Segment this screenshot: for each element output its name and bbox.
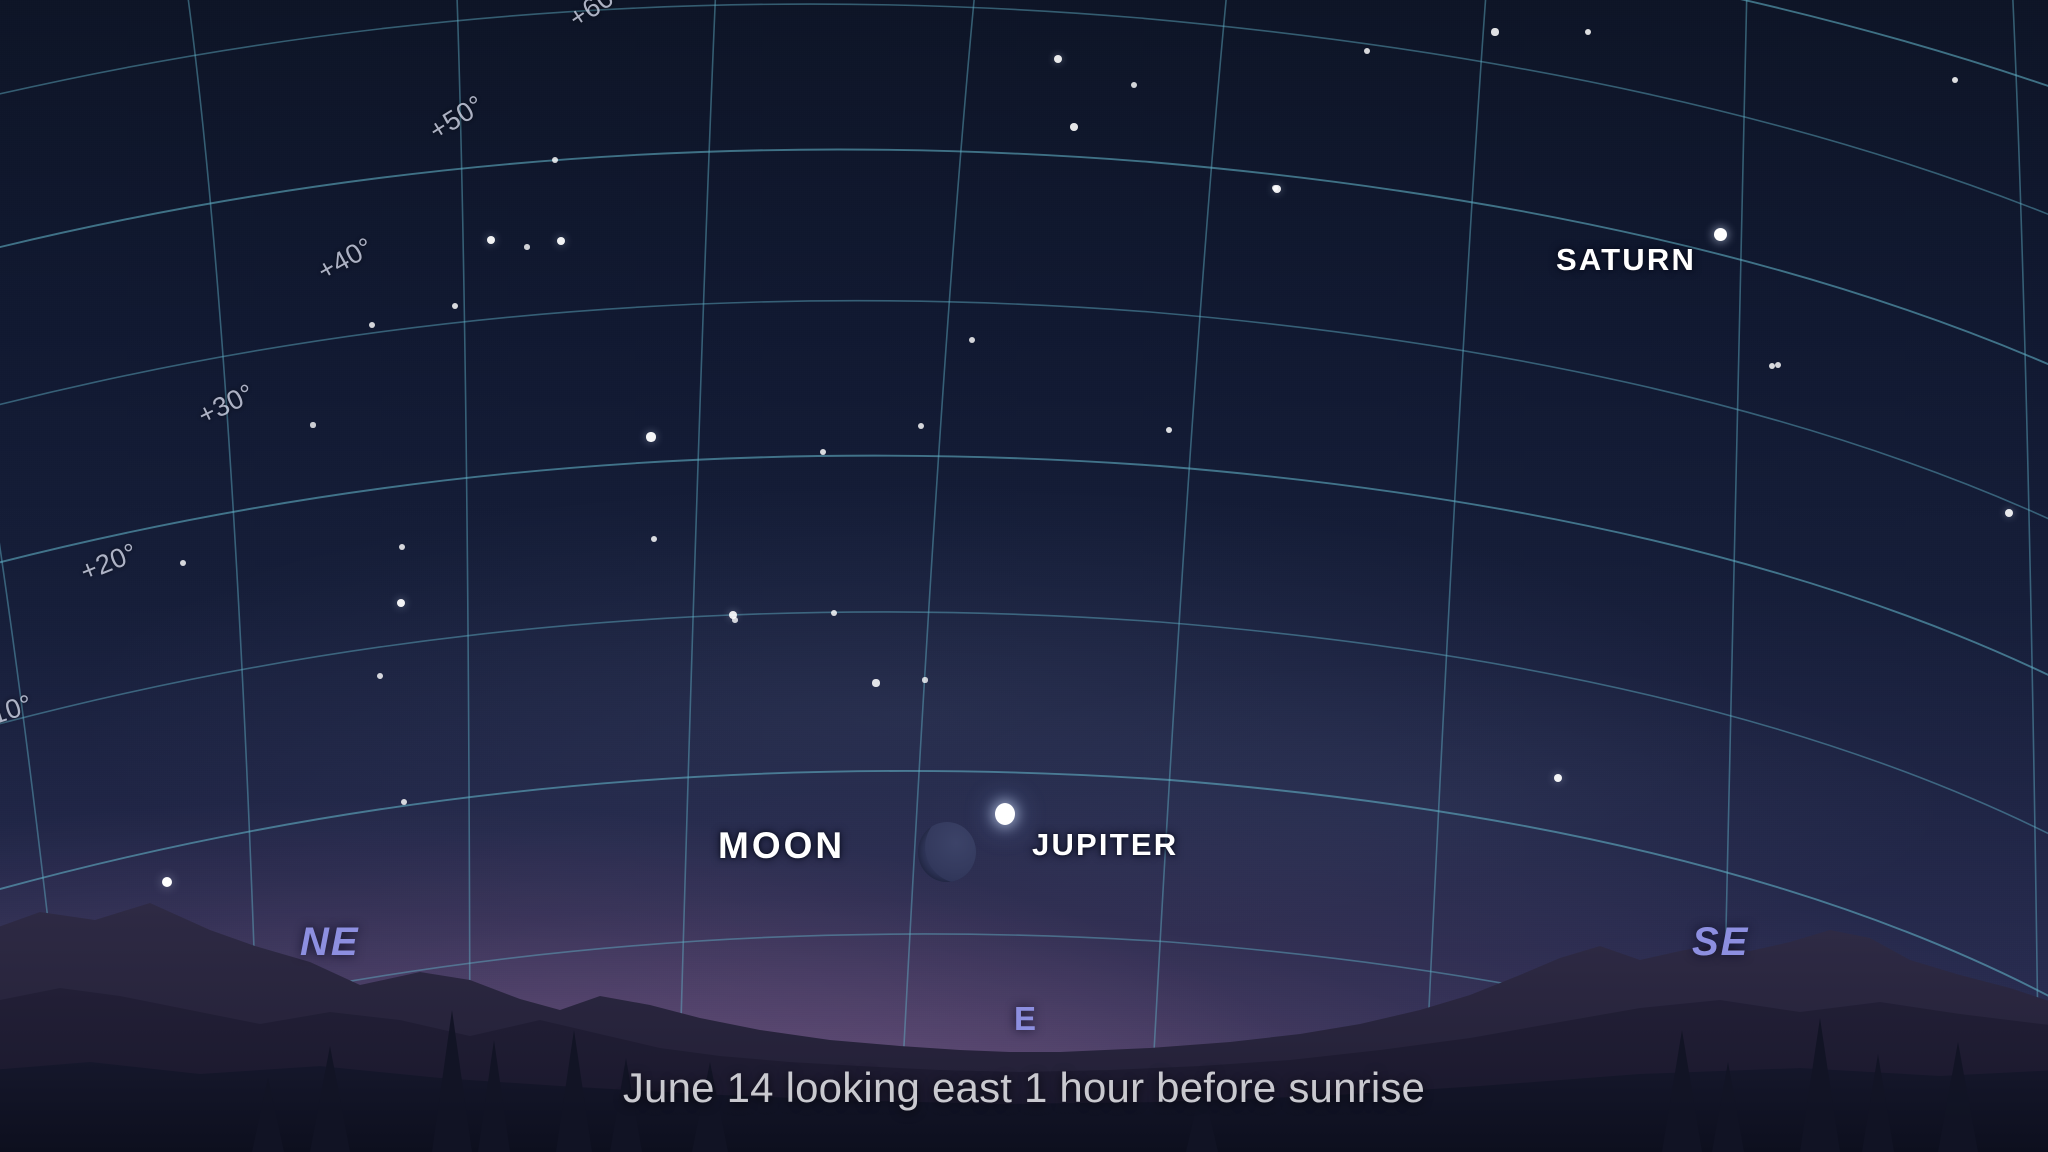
chart-caption: June 14 looking east 1 hour before sunri… [0, 1064, 2048, 1112]
compass-label-e: E [1014, 1000, 1036, 1038]
sky-chart: +60°+50°+40°+30°+20°+10° MOON JUPITER SA… [0, 0, 2048, 1152]
compass-label-ne: NE [300, 920, 360, 965]
compass-label-se: SE [1692, 920, 1749, 965]
horizon-terrain [0, 0, 2048, 1152]
